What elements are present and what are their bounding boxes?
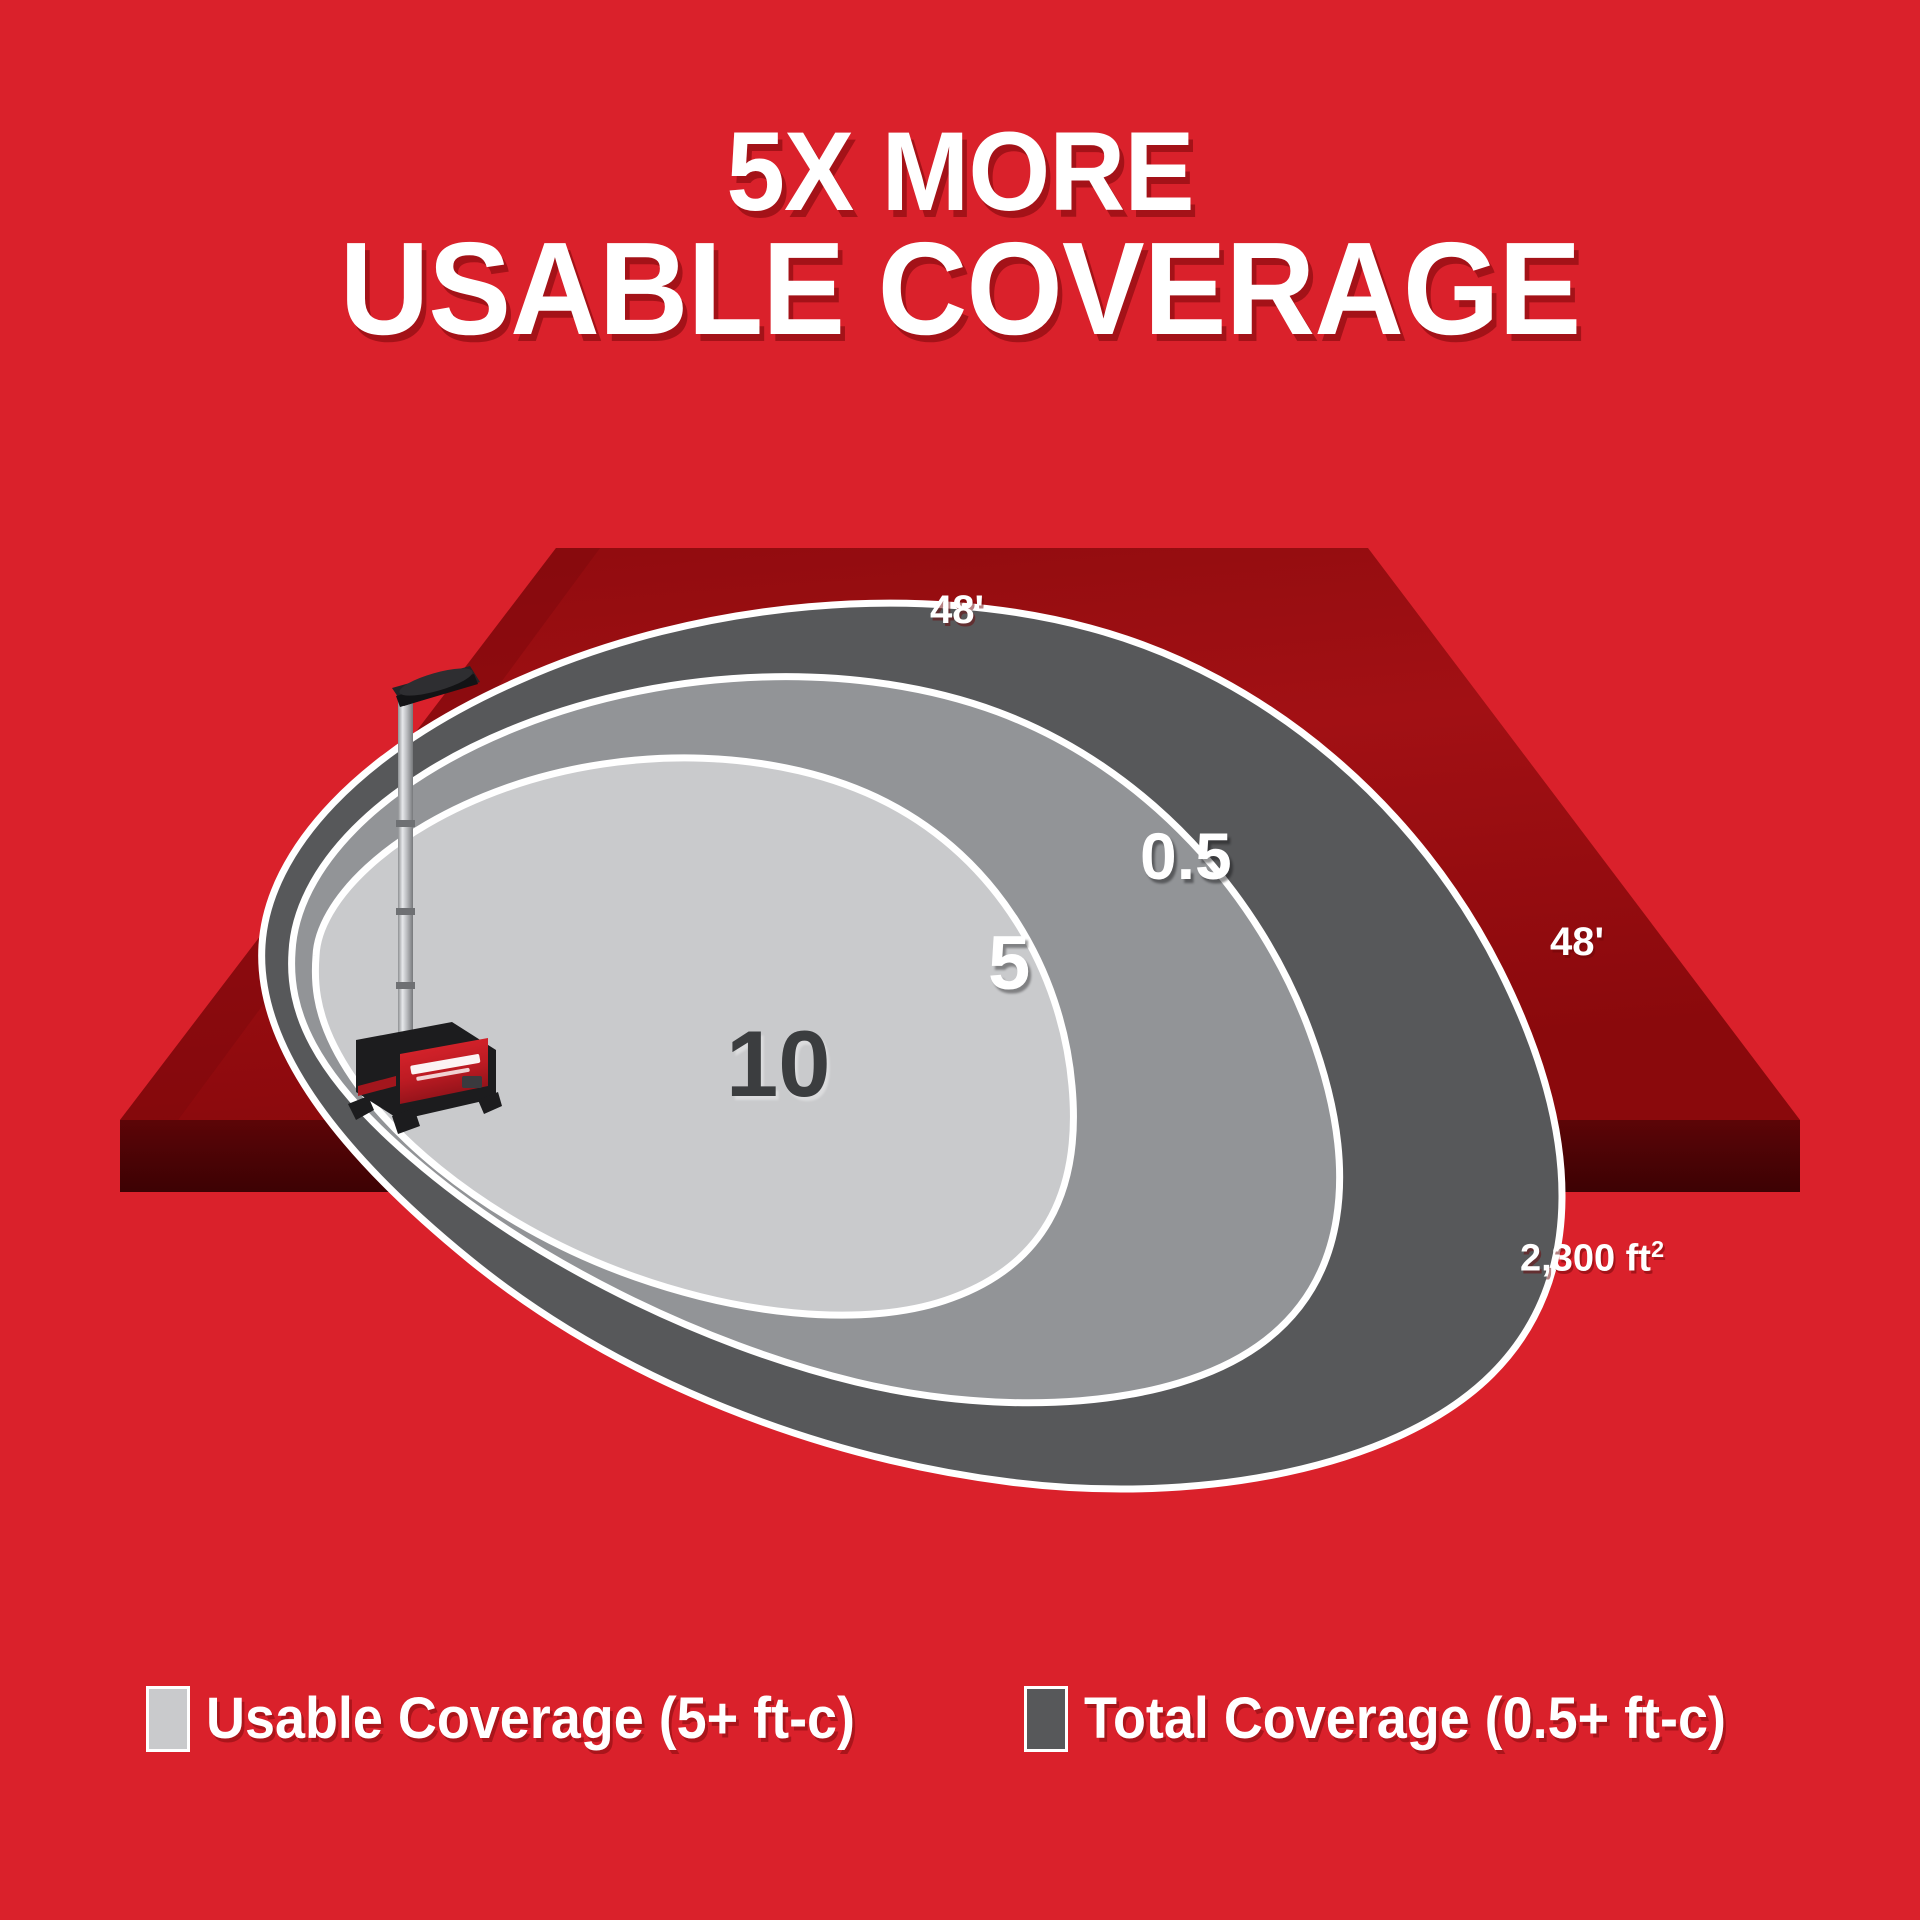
mast-joint-3 [396,982,415,989]
legend-item-usable: Usable Coverage (5+ ft-c) [146,1686,904,1752]
area-value: 2,300 ft [1520,1238,1651,1280]
coverage-diagram [0,520,1920,1600]
mast-joint-1 [396,820,415,827]
page-title: 5X MORE USABLE COVERAGE [58,118,1863,352]
tower-mast [398,700,413,1060]
headline-line-2: USABLE COVERAGE [58,226,1863,353]
legend-label-usable: Usable Coverage (5+ ft-c) [206,1690,855,1748]
contour-label-middle: 5 [988,920,1030,1007]
contour-label-outer: 0.5 [1140,818,1232,894]
dimension-label-top: 48' [930,588,984,633]
contour-label-inner: 10 [726,1010,831,1118]
legend: Usable Coverage (5+ ft-c) Total Coverage… [0,1674,1920,1764]
infographic-canvas: 5X MORE USABLE COVERAGE [0,0,1920,1920]
legend-item-total: Total Coverage (0.5+ ft-c) [1024,1686,1774,1752]
legend-swatch-total [1024,1686,1068,1752]
dimension-label-right: 48' [1550,920,1604,965]
mast-joint-2 [396,908,415,915]
area-exponent: 2 [1651,1236,1664,1262]
m18-badge [462,1076,482,1088]
area-label: 2,300 ft2 [1520,1236,1664,1281]
legend-label-total: Total Coverage (0.5+ ft-c) [1084,1690,1726,1748]
legend-swatch-usable [146,1686,190,1752]
headline-line-1: 5X MORE [58,118,1863,226]
